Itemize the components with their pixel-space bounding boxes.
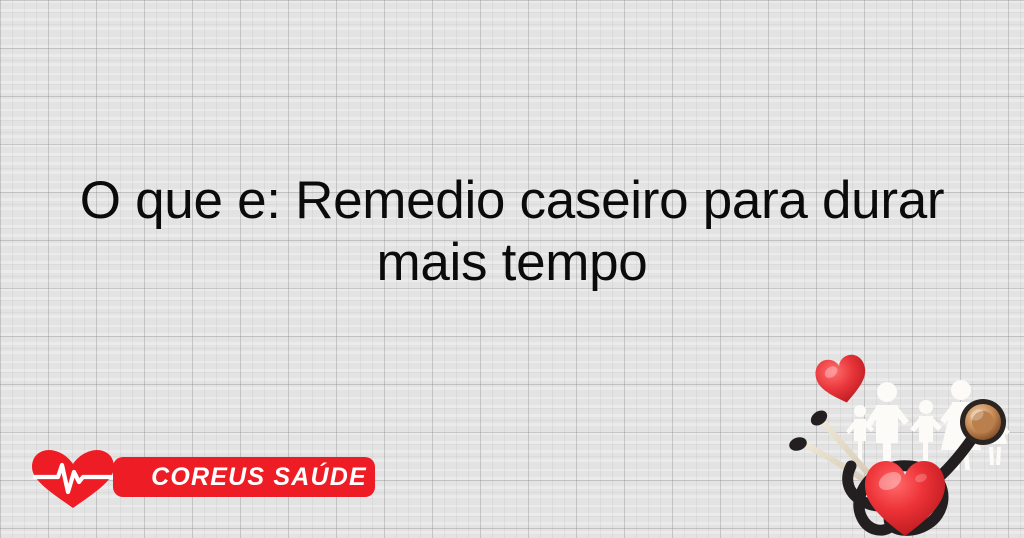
brand-logo[interactable]: COREUS SAÚDE [30,446,350,512]
heart-pulse-icon [30,448,116,510]
small-red-heart [813,352,871,407]
medical-collage [786,348,1024,538]
brand-label: COREUS SAÚDE [143,457,375,497]
page-title: O que e: Remedio caseiro para durar mais… [0,170,1024,294]
image-canvas: O que e: Remedio caseiro para durar mais… [0,0,1024,538]
stethoscope-chestpiece [960,399,1006,445]
page-title-line-1: O que e: Remedio caseiro para durar [0,170,1024,232]
page-title-line-2: mais tempo [0,232,1024,294]
